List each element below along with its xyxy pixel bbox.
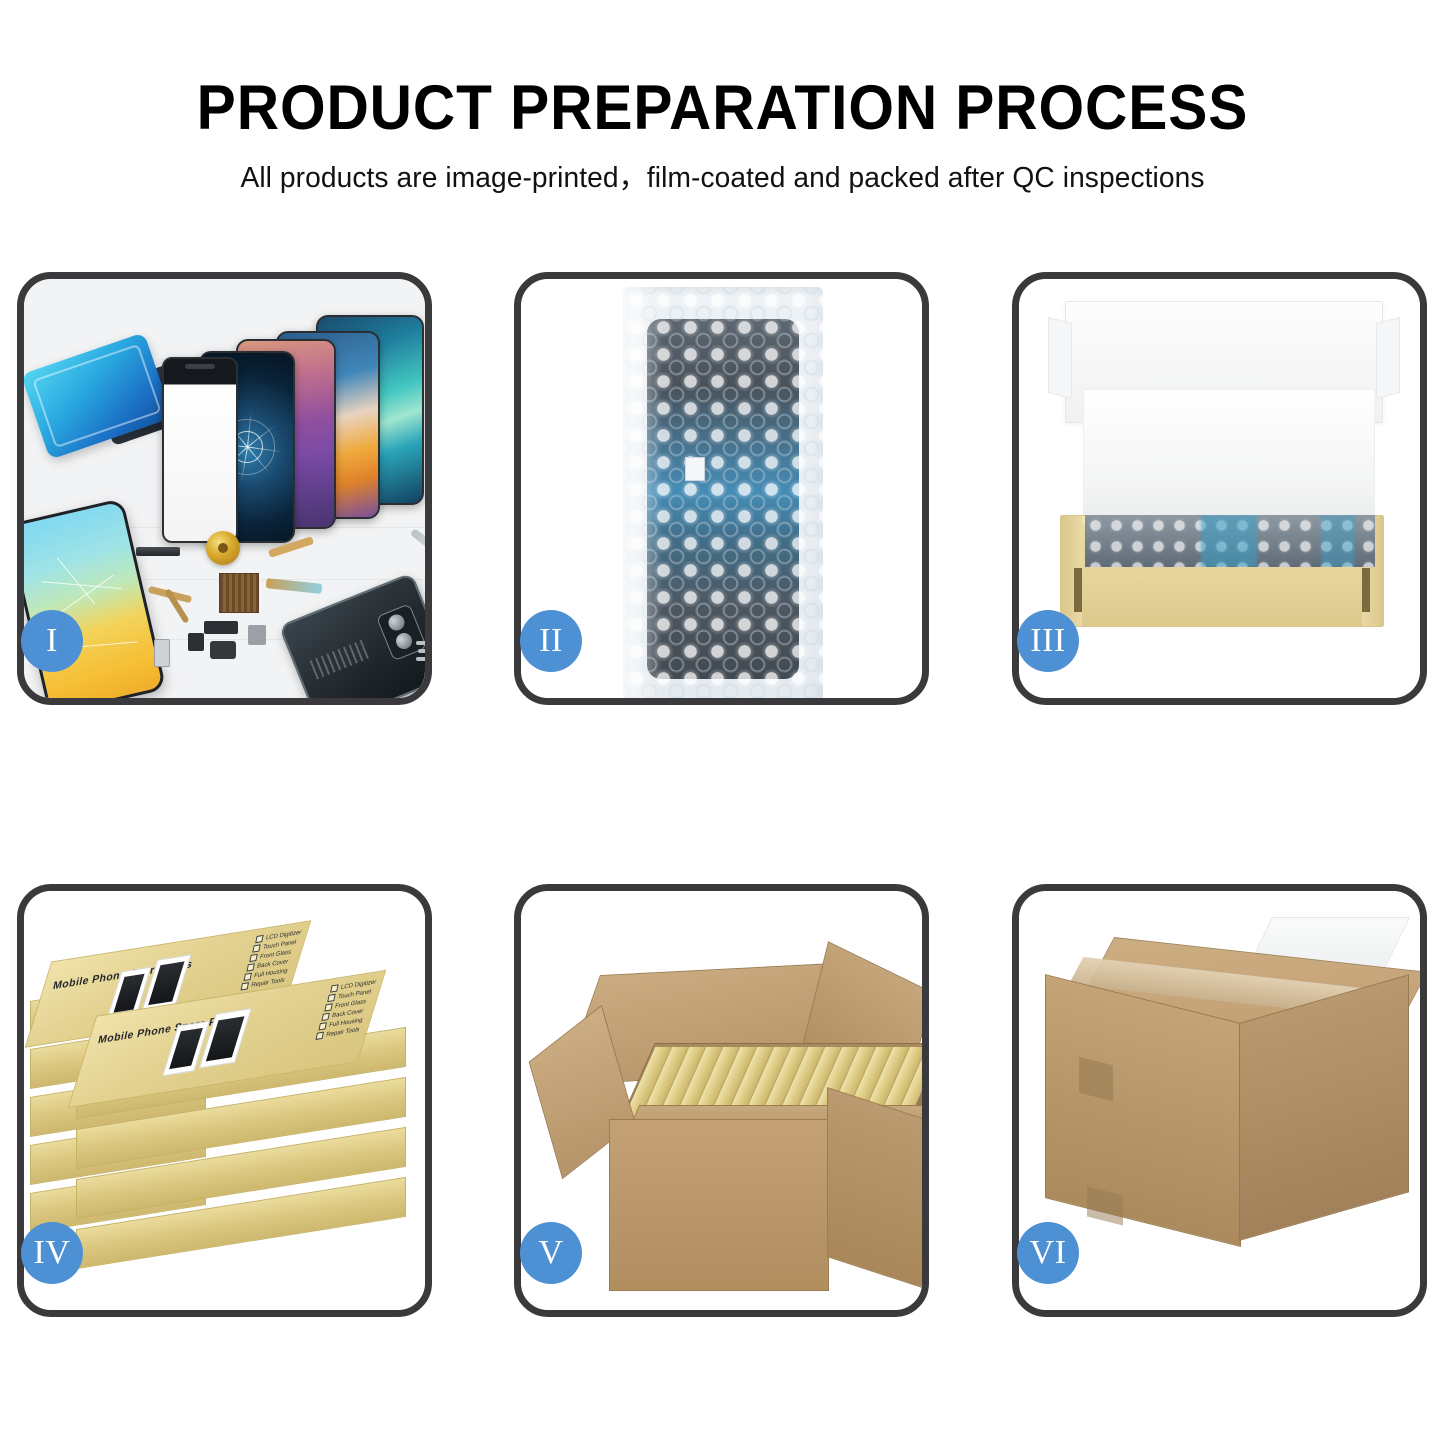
step-badge-3: III	[1017, 610, 1079, 672]
wireless-charging-coil-icon	[206, 531, 240, 565]
step-badge-2: II	[520, 610, 582, 672]
speaker-icon	[210, 641, 236, 659]
small-components-group	[144, 529, 425, 698]
vibrator-icon	[248, 625, 266, 645]
step-3-image	[1019, 279, 1420, 698]
foam-insert-icon	[1083, 389, 1375, 531]
packed-product-icon	[1085, 515, 1375, 567]
flex-cable-icon	[266, 578, 323, 594]
carton-body-icon	[609, 1119, 829, 1291]
screws-icon	[416, 641, 425, 663]
flex-cable-icon	[268, 536, 314, 558]
process-step-grid: Mobile Phone Spare Parts LCD Digitizer T…	[0, 0, 1445, 1445]
module-icon	[204, 621, 238, 634]
step-badge-5: V	[520, 1222, 582, 1284]
step-6-image	[1019, 891, 1420, 1310]
product-label-icon	[685, 457, 705, 481]
step-4-image: Mobile Phone Spare Parts LCD Digitizer T…	[24, 891, 425, 1310]
step-1-image	[24, 279, 425, 698]
tweezers-icon	[410, 528, 425, 570]
battery-connector-icon	[136, 547, 180, 556]
step-badge-4: IV	[21, 1222, 83, 1284]
step-badge-1: I	[21, 610, 83, 672]
carton-side-icon	[827, 1087, 922, 1289]
sim-tray-icon	[154, 639, 170, 667]
module-icon	[188, 633, 204, 651]
step-badge-6: VI	[1017, 1222, 1079, 1284]
front-glass-icon	[162, 357, 238, 543]
bubble-wrap-package-icon	[623, 287, 823, 698]
ic-chip-icon	[219, 573, 259, 613]
